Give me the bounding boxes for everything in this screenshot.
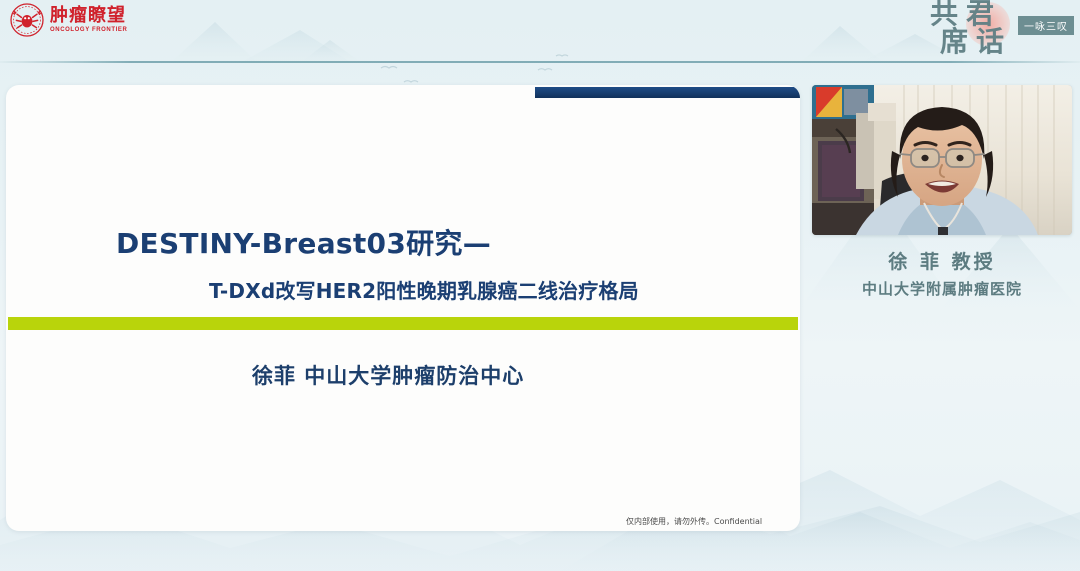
slide-navy-accent-bar [535, 87, 800, 98]
page-header: 肿瘤瞭望 ONCOLOGY FRONTIER 共 君 席 话 一咏三叹 [0, 0, 1080, 63]
slide-green-accent-bar [8, 317, 798, 330]
brand-logo[interactable]: 肿瘤瞭望 ONCOLOGY FRONTIER [10, 3, 127, 37]
event-calligraphy-title: 共 君 席 话 一咏三叹 [926, 0, 1046, 60]
speaker-organization: 中山大学附属肿瘤医院 [812, 278, 1072, 301]
screen-root: 肿瘤瞭望 ONCOLOGY FRONTIER 共 君 席 话 一咏三叹 DEST… [0, 0, 1080, 571]
webcam-frame [812, 85, 1072, 235]
speaker-webcam-video[interactable] [812, 85, 1072, 235]
speaker-name: 徐 菲 教授 [812, 250, 1072, 276]
speaker-info: 徐 菲 教授 中山大学附属肿瘤医院 [812, 250, 1072, 300]
calligraphy-char-3: 席 [940, 28, 968, 56]
brand-name-cn: 肿瘤瞭望 [50, 7, 127, 25]
slide-title-line-2: T-DXd改写HER2阳性晚期乳腺癌二线治疗格局 [209, 275, 639, 304]
calligraphy-char-1: 共 [930, 0, 958, 28]
header-divider [0, 61, 1080, 63]
brand-name-en: ONCOLOGY FRONTIER [50, 27, 127, 33]
calligraphy-char-4: 话 [976, 28, 1004, 56]
slide-title-line-1: DESTINY-Breast03研究— [116, 222, 491, 262]
slide-presenter-line: 徐菲 中山大学肿瘤防治中心 [252, 360, 524, 390]
presentation-slide[interactable]: DESTINY-Breast03研究— T-DXd改写HER2阳性晚期乳腺癌二线… [6, 85, 800, 531]
crab-emblem-icon [10, 3, 44, 37]
slide-confidential-notice: 仅内部使用，请勿外传。Confidential [626, 516, 762, 527]
calligraphy-char-2: 君 [966, 0, 994, 28]
event-subtitle-badge: 一咏三叹 [1018, 16, 1074, 35]
